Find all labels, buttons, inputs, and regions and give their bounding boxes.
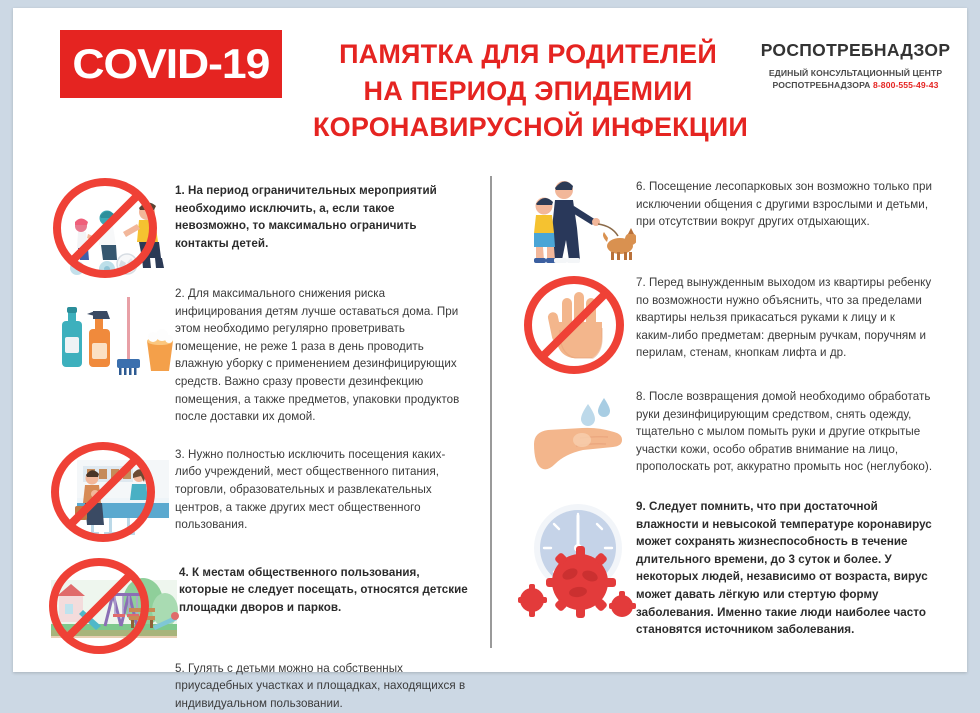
list-item: 1. На период ограничительных мероприятий… bbox=[47, 174, 468, 279]
list-item-text: 5. Гулять с детьми можно на собственных … bbox=[175, 660, 468, 713]
page-title: ПАМЯТКА ДЛЯ РОДИТЕЛЕЙ НА ПЕРИОД ЭПИДЕМИИ… bbox=[313, 36, 743, 146]
list-item: 9. Следует помнить, что при достаточной … bbox=[516, 496, 933, 639]
list-item: 5. Гулять с детьми можно на собственных … bbox=[47, 660, 468, 713]
playground-prohibited-icon bbox=[47, 550, 179, 658]
prohibition-ring bbox=[51, 442, 155, 542]
list-item: 7. Перед вынужденным выходом из квартиры… bbox=[516, 272, 933, 376]
list-item-text: 2. Для максимального снижения риска инфи… bbox=[175, 283, 468, 426]
cafe-shop-prohibited-icon bbox=[47, 436, 175, 544]
consultation-center-line-2: РОСПОТРЕБНАДЗОРА 8-800-555-49-43 bbox=[753, 79, 958, 91]
list-item: 4. К местам общественного пользования, к… bbox=[47, 550, 468, 658]
prohibition-ring bbox=[524, 276, 624, 374]
family-walking-dog-icon bbox=[516, 174, 636, 266]
prohibition-ring bbox=[49, 558, 149, 654]
page-title-line-3: КОРОНАВИРУСНОЙ ИНФЕКЦИИ bbox=[313, 109, 743, 146]
list-item-text: 6. Посещение лесопарковых зон возможно т… bbox=[636, 174, 933, 231]
covid-19-badge: COVID-19 bbox=[60, 30, 282, 98]
left-column: 1. На период ограничительных мероприятий… bbox=[47, 168, 490, 713]
consultation-center-line-1: ЕДИНЫЙ КОНСУЛЬТАЦИОННЫЙ ЦЕНТР bbox=[753, 67, 958, 79]
cleaning-supplies-icon bbox=[47, 283, 175, 393]
list-item-text: 7. Перед вынужденным выходом из квартиры… bbox=[636, 272, 933, 362]
hotline-phone-number: 8-800-555-49-43 bbox=[873, 80, 939, 90]
page-title-line-2: НА ПЕРИОД ЭПИДЕМИИ bbox=[313, 73, 743, 110]
consultation-center-info: ЕДИНЫЙ КОНСУЛЬТАЦИОННЫЙ ЦЕНТР РОСПОТРЕБН… bbox=[753, 67, 958, 92]
right-column: 6. Посещение лесопарковых зон возможно т… bbox=[490, 168, 933, 713]
list-item: 6. Посещение лесопарковых зон возможно т… bbox=[516, 174, 933, 266]
list-item-text: 4. К местам общественного пользования, к… bbox=[179, 550, 468, 617]
list-item: 2. Для максимального снижения риска инфи… bbox=[47, 283, 468, 426]
organization-name: РОСПОТРЕБНАДЗОР bbox=[753, 40, 958, 61]
content-columns: 1. На период ограничительных мероприятий… bbox=[13, 168, 967, 713]
children-playing-prohibited-icon bbox=[47, 174, 175, 279]
hand-no-touch-prohibited-icon bbox=[516, 272, 636, 376]
prohibition-ring bbox=[53, 178, 157, 278]
page-title-line-1: ПАМЯТКА ДЛЯ РОДИТЕЛЕЙ bbox=[313, 36, 743, 73]
list-item: 3. Нужно полностью исключить посещения к… bbox=[47, 436, 468, 544]
list-item-text: 8. После возвращения домой необходимо об… bbox=[636, 386, 933, 476]
poster-header: COVID-19 ПАМЯТКА ДЛЯ РОДИТЕЛЕЙ НА ПЕРИОД… bbox=[13, 8, 967, 168]
list-item-text: 9. Следует помнить, что при достаточной … bbox=[636, 496, 933, 639]
list-item-spacer bbox=[47, 660, 175, 662]
list-item: 8. После возвращения домой необходимо об… bbox=[516, 386, 933, 484]
rospotrebnadzor-block: РОСПОТРЕБНАДЗОР ЕДИНЫЙ КОНСУЛЬТАЦИОННЫЙ … bbox=[753, 40, 958, 92]
virus-clock-icon bbox=[516, 496, 636, 620]
covid-19-badge-label: COVID-19 bbox=[73, 43, 270, 85]
hand-washing-water-drops-icon bbox=[516, 386, 636, 484]
poster-page: COVID-19 ПАМЯТКА ДЛЯ РОДИТЕЛЕЙ НА ПЕРИОД… bbox=[13, 8, 967, 672]
list-item-text: 3. Нужно полностью исключить посещения к… bbox=[175, 436, 468, 534]
list-item-text: 1. На период ограничительных мероприятий… bbox=[175, 174, 468, 252]
